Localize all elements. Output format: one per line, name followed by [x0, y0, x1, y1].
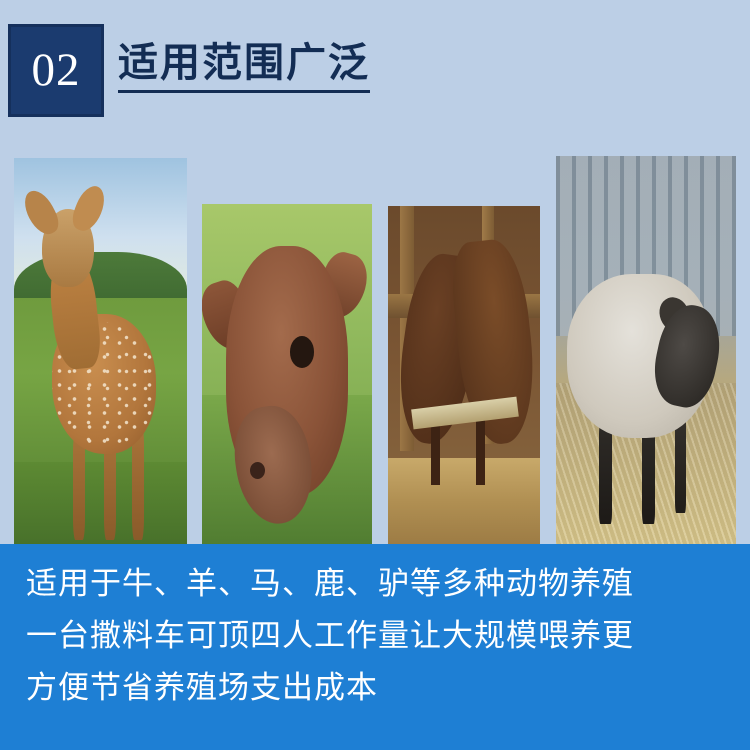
horses-photo [388, 206, 540, 546]
photo-gallery [0, 134, 750, 544]
caption-line-3: 方便节省养殖场支出成本 [26, 662, 724, 714]
calf-eye [290, 336, 314, 367]
caption-line-2: 一台撒料车可顶四人工作量让大规模喂养更 [26, 610, 724, 662]
page-title: 适用范围广泛 [118, 40, 718, 93]
deer-photo-foreground-grass [14, 462, 187, 548]
page-title-text: 适用范围广泛 [118, 40, 370, 93]
deer-photo [14, 158, 187, 548]
section-number-badge: 02 [8, 24, 104, 117]
calf-nostril [250, 462, 265, 479]
barn-floor [388, 458, 540, 546]
calf-photo [202, 204, 372, 552]
section-number: 02 [32, 47, 81, 94]
sheep-photo [556, 156, 736, 548]
header: 02 适用范围广泛 [0, 0, 750, 134]
sheep-leg-front [599, 423, 612, 525]
caption-block: 适用于牛、羊、马、鹿、驴等多种动物养殖 一台撒料车可顶四人工作量让大规模喂养更 … [0, 544, 750, 750]
poster-root: 02 适用范围广泛 [0, 0, 750, 750]
caption-line-1: 适用于牛、羊、马、鹿、驴等多种动物养殖 [26, 558, 724, 610]
